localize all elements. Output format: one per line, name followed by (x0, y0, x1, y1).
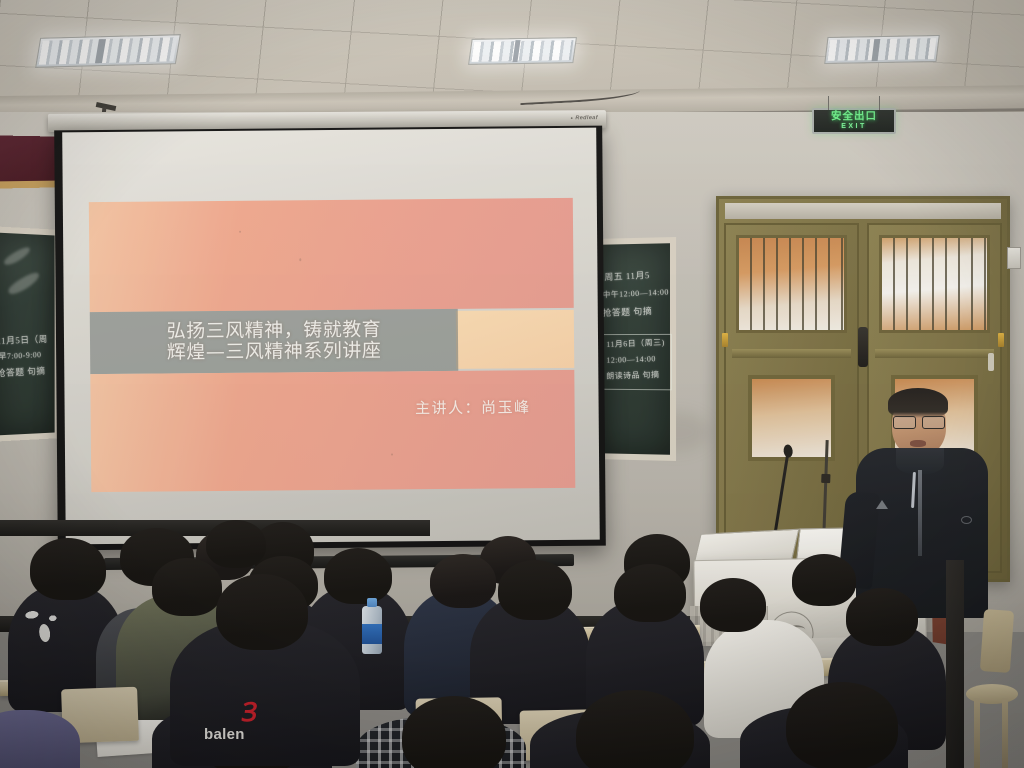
water-bottle (362, 606, 382, 654)
bottle-label (362, 624, 382, 644)
chalk-line: 朗读诗品 句摘 (606, 369, 659, 382)
audience-head (206, 520, 266, 568)
audience-head (430, 554, 496, 608)
door-window-right (879, 235, 990, 333)
exit-sign-wire (879, 96, 880, 110)
door-lock-icon[interactable] (988, 353, 994, 371)
slide-band-bottom (90, 370, 575, 492)
wall-banner (0, 135, 56, 188)
door-window-left (736, 235, 847, 333)
slide-title-band: 弘扬三风精神，铸就教育 辉煌—三风精神系列讲座 (90, 309, 459, 374)
side-chair-leg (1002, 698, 1008, 768)
wall-post (946, 560, 964, 768)
door-hinge-icon (722, 333, 728, 347)
chalk-line: 12:00—14:00 (606, 353, 656, 366)
slide-title-line-2: 辉煌—三风精神系列讲座 (167, 341, 382, 364)
ceiling-light-panel-3 (824, 35, 940, 64)
exit-sign-chinese-label: 安全出口 (831, 111, 877, 122)
side-chair (966, 610, 1016, 768)
audience-head (152, 558, 222, 616)
slide-accent-block (456, 310, 575, 369)
audience-head (614, 564, 686, 622)
projection-screen: 弘扬三风精神，铸就教育 辉煌—三风精神系列讲座 主讲人：尚玉峰 (54, 126, 606, 551)
blackboard-right: 周五 11月5 中午12:00—14:00 抢答题 句摘 11月6日（周三) 1… (593, 237, 676, 461)
chalk-line: 早7:00-9:00 (0, 349, 42, 363)
audience-head (216, 574, 308, 650)
audience-seating: Ɜ balen (0, 520, 1024, 768)
exit-sign-english-label: EXIT (841, 122, 867, 131)
chalk-line: 11月6日（周三) (606, 337, 665, 351)
audience-head (402, 696, 506, 768)
jacket-logo-text: balen (204, 726, 245, 743)
side-chair-back (980, 609, 1014, 673)
presenter-mouth (910, 440, 926, 447)
chalk-line: 中午12:00—14:00 (602, 286, 669, 301)
exit-sign-wire (828, 96, 829, 110)
window-bars-icon (739, 238, 844, 330)
exit-sign: 安全出口 EXIT (812, 108, 896, 134)
side-chair-leg (974, 698, 980, 768)
slide-title: 弘扬三风精神，铸就教育 辉煌—三风精神系列讲座 (163, 319, 386, 363)
audience-head (324, 548, 392, 604)
audience-head (498, 560, 572, 620)
screen-brand-label: Redleaf (570, 115, 598, 121)
audience-head (786, 682, 898, 768)
presenter-hair (888, 388, 948, 418)
dragon-print-graphic (17, 599, 70, 657)
slide-band-top (89, 198, 574, 312)
ceiling-light-panel-2 (468, 37, 577, 65)
window-bars-icon (882, 238, 987, 330)
presentation-slide: 弘扬三风精神，铸就教育 辉煌—三风精神系列讲座 主讲人：尚玉峰 (89, 198, 576, 492)
wall-switch-plate[interactable] (1007, 247, 1021, 269)
audience-head (792, 554, 856, 606)
door-handle-icon[interactable] (858, 327, 868, 367)
blackboard-left: 11月5日（周 早7:00-9:00 抢答题 句摘 (0, 226, 60, 442)
lecture-hall-photo: 11月5日（周 早7:00-9:00 抢答题 句摘 周五 11月5 中午12:0… (0, 0, 1024, 768)
audience-head (700, 578, 766, 632)
chalk-line: 抢答题 句摘 (0, 365, 46, 381)
screen-surface: 弘扬三风精神，铸就教育 辉煌—三风精神系列讲座 主讲人：尚玉峰 (62, 128, 600, 545)
chalk-line: 抢答题 句摘 (602, 305, 652, 320)
ceiling-light-panel-1 (35, 34, 181, 68)
jacket-logo-mark-icon: Ɜ (240, 700, 259, 726)
door-midrail (875, 349, 994, 358)
door-midrail (732, 349, 851, 358)
chalk-line: 11月5日（周 (0, 333, 48, 348)
audience-head (846, 588, 918, 646)
door-hinge-icon (998, 333, 1004, 347)
door-transom (725, 203, 1001, 219)
glasses-icon (892, 416, 946, 427)
chalk-line: 周五 11月5 (604, 269, 650, 284)
slide-presenter-name: 主讲人：尚玉峰 (415, 396, 531, 418)
audience-head (30, 538, 106, 600)
